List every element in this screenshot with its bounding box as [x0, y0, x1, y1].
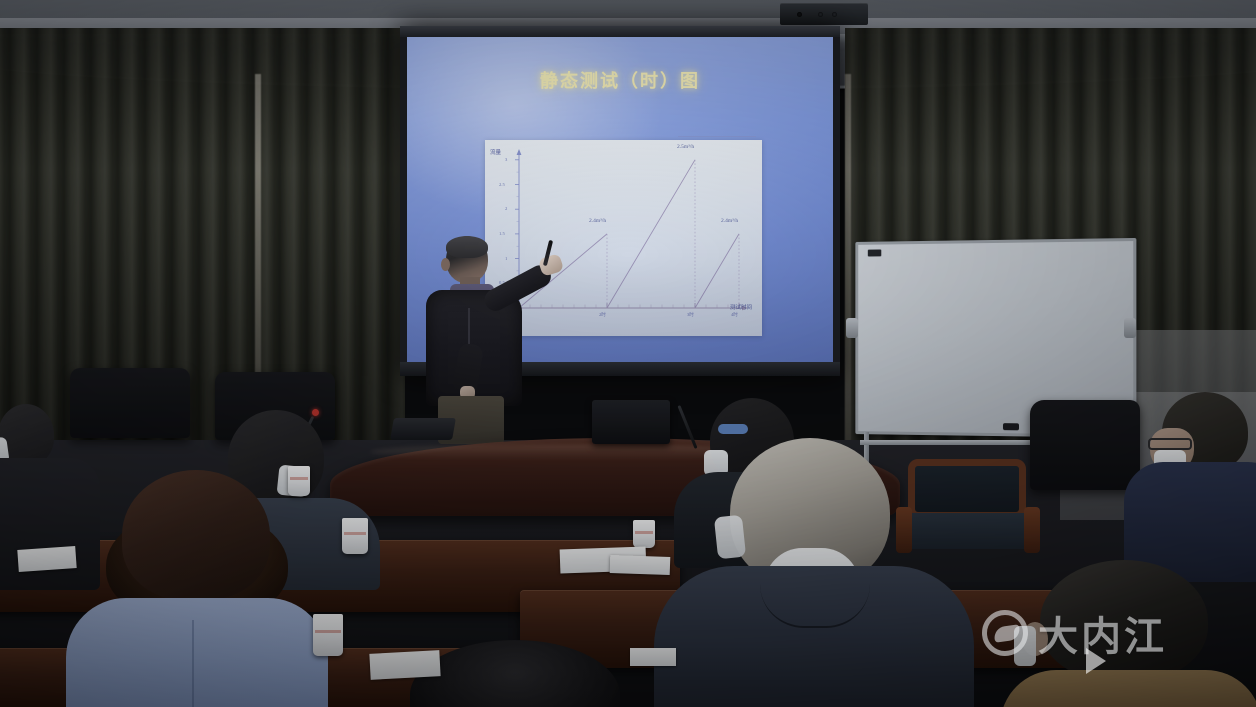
- chair-arm-right: [1024, 507, 1040, 553]
- document-sheet: [369, 650, 440, 680]
- audience-member: [1140, 392, 1256, 572]
- chart-y-axis-label: 流量: [490, 148, 501, 156]
- office-chair: [1030, 400, 1140, 490]
- monitor: [592, 400, 670, 444]
- presenter-hair: [446, 236, 488, 258]
- audience-member: [1000, 560, 1256, 707]
- panel-top-rule: [678, 136, 756, 137]
- slide-title: 静态测试（时）图: [407, 67, 833, 93]
- person-head: [410, 640, 620, 707]
- face-mask: [1014, 626, 1036, 666]
- screen-top-casing: [400, 26, 840, 37]
- whiteboard-pivot-right: [1124, 318, 1136, 338]
- document-sheet: [630, 648, 676, 666]
- paper-cup: [342, 518, 368, 554]
- audience-member: [410, 640, 620, 707]
- whiteboard-clip: [868, 249, 881, 256]
- person-head: [1040, 560, 1208, 682]
- paper-cup: [313, 614, 343, 656]
- face-mask: [714, 515, 746, 560]
- hair-tie: [718, 424, 748, 434]
- whiteboard-pivot-left: [846, 318, 858, 338]
- person-head: [122, 470, 270, 600]
- y-tick-2-5: 2.5: [499, 182, 505, 187]
- x-tick-3h: 3时: [687, 312, 694, 318]
- audience-member: [60, 470, 330, 707]
- chart-x-axis-label: 测试时间: [730, 303, 752, 311]
- y-tick-3: 3: [505, 157, 507, 162]
- y-tick-2: 2: [505, 206, 507, 211]
- x-tick-2h: 2时: [599, 312, 606, 318]
- person-jacket: [1000, 670, 1256, 707]
- audience-member: [660, 438, 960, 707]
- chart-annotation-2: 2.5m³/h: [677, 144, 694, 150]
- whiteboard-marker: [1003, 423, 1019, 430]
- presenter: [408, 236, 538, 436]
- coat-seam: [192, 620, 194, 707]
- x-tick-4h: 4时: [731, 312, 738, 318]
- chart-annotation-3: 2.4m³/h: [721, 218, 738, 224]
- presentation-room-photo: 静态测试（时）图: [0, 0, 1256, 707]
- person-coat: [66, 598, 328, 707]
- play-arrow-icon: [1086, 648, 1106, 674]
- ceiling-speaker-icon: [780, 3, 868, 25]
- paper-cup: [633, 520, 655, 548]
- glasses-icon: [1148, 438, 1192, 450]
- laptop: [390, 418, 456, 440]
- presenter-ear: [441, 258, 450, 271]
- chart-annotation-1: 2.4m³/h: [589, 218, 606, 224]
